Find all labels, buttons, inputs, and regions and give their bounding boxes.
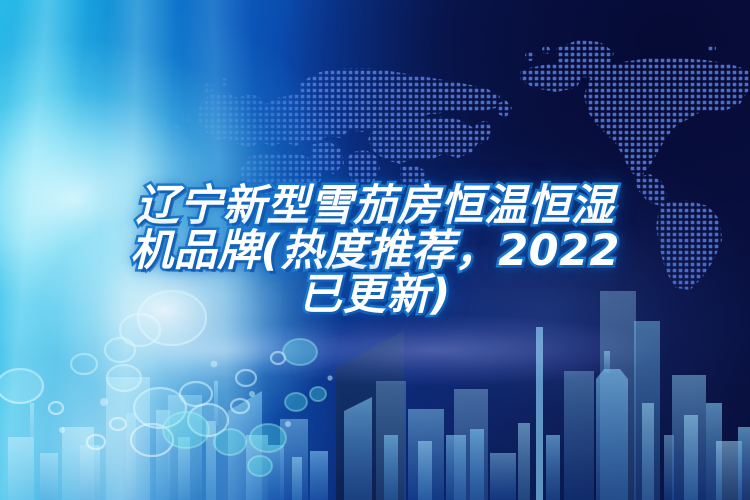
purple-haze-band [0, 0, 750, 500]
banner-image: 辽宁新型雪茄房恒温恒湿 机品牌(热度推荐，2022 已更新) [0, 0, 750, 500]
